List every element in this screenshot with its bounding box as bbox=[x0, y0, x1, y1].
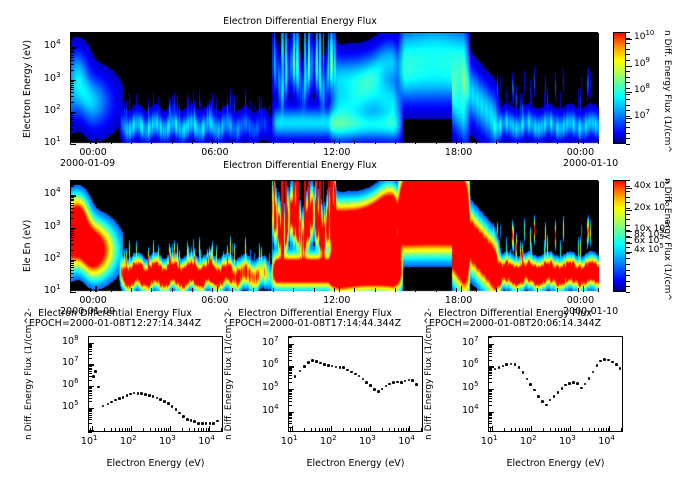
tick-mark bbox=[172, 288, 173, 292]
tick-mark bbox=[578, 140, 579, 144]
spectrum-panel-subtitle: EPOCH=2000-01-08T17:14:44.344Z bbox=[200, 318, 430, 329]
top-colorbar-label: n Diff. Energy Flux (1/(cm^ bbox=[672, 30, 697, 40]
spectrum-xlabel: Electron Energy (eV) bbox=[58, 458, 253, 469]
tick-mark bbox=[488, 417, 492, 418]
tick-mark bbox=[70, 49, 74, 50]
tick-mark bbox=[104, 428, 105, 432]
tick-mark bbox=[488, 405, 492, 406]
spectrum-xtick-label: 101 bbox=[281, 436, 298, 447]
tick-mark bbox=[527, 428, 528, 432]
tick-mark bbox=[409, 426, 410, 432]
tick-mark bbox=[151, 140, 152, 144]
tick-mark bbox=[70, 237, 74, 238]
yaxis-tick-label: 103 bbox=[44, 221, 61, 232]
data-point bbox=[167, 402, 170, 405]
spectrum-ytick-label: 107 bbox=[262, 337, 279, 348]
spectrum-xtick-label: 103 bbox=[159, 436, 176, 447]
tick-mark bbox=[70, 57, 74, 58]
tick-mark bbox=[70, 102, 74, 103]
tick-mark bbox=[122, 428, 123, 432]
tick-mark bbox=[70, 263, 74, 264]
data-point bbox=[94, 370, 97, 373]
tick-mark bbox=[626, 292, 630, 293]
tick-mark bbox=[161, 428, 162, 432]
spectrum-plot-area bbox=[288, 336, 423, 432]
data-point bbox=[137, 392, 140, 395]
tick-mark bbox=[111, 288, 112, 292]
xaxis-tick-label: 18:00 bbox=[445, 147, 472, 158]
tick-mark bbox=[358, 428, 359, 432]
tick-mark bbox=[212, 288, 213, 292]
tick-mark bbox=[88, 401, 92, 402]
tick-mark bbox=[293, 140, 294, 144]
yaxis-tick-label: 103 bbox=[44, 73, 61, 84]
spectrum-ytick-label: 106 bbox=[462, 359, 479, 370]
data-point bbox=[110, 401, 113, 404]
tick-mark bbox=[70, 113, 74, 114]
tick-mark bbox=[488, 368, 492, 369]
tick-mark bbox=[288, 391, 292, 392]
tick-mark bbox=[88, 415, 92, 416]
tick-mark bbox=[626, 71, 630, 72]
data-point bbox=[171, 405, 174, 408]
tick-mark bbox=[88, 411, 92, 412]
tick-mark bbox=[315, 428, 316, 432]
tick-mark bbox=[88, 371, 92, 372]
spectrum-xlabel: Electron Energy (eV) bbox=[258, 458, 453, 469]
tick-mark bbox=[461, 286, 462, 292]
tick-mark bbox=[525, 428, 526, 432]
tick-mark bbox=[626, 77, 630, 78]
tick-mark bbox=[70, 203, 74, 204]
tick-mark bbox=[626, 242, 630, 243]
tick-mark bbox=[288, 390, 292, 391]
tick-mark bbox=[232, 140, 233, 144]
data-point bbox=[197, 422, 200, 425]
tick-mark bbox=[70, 89, 74, 90]
tick-mark bbox=[253, 140, 254, 144]
tick-mark bbox=[70, 180, 74, 181]
tick-mark bbox=[70, 115, 74, 116]
tick-mark bbox=[88, 365, 92, 366]
data-point bbox=[557, 391, 560, 394]
tick-mark bbox=[626, 94, 630, 95]
tick-mark bbox=[131, 426, 132, 432]
tick-mark bbox=[70, 140, 71, 144]
tick-mark bbox=[131, 288, 132, 292]
tick-mark bbox=[70, 83, 74, 84]
tick-mark bbox=[561, 428, 562, 432]
tick-mark bbox=[70, 197, 74, 198]
tick-mark bbox=[626, 243, 632, 244]
tick-mark bbox=[626, 186, 630, 187]
spectrum-xtick-label: 102 bbox=[520, 436, 537, 447]
tick-mark bbox=[522, 428, 523, 432]
tick-mark bbox=[70, 52, 74, 53]
tick-mark bbox=[488, 347, 492, 348]
tick-mark bbox=[208, 428, 209, 432]
tick-mark bbox=[408, 428, 409, 432]
tick-mark bbox=[129, 428, 130, 432]
tick-mark bbox=[361, 428, 362, 432]
top-spectrogram-plot bbox=[70, 32, 598, 144]
tick-mark bbox=[70, 235, 74, 236]
spectrum-plot-area bbox=[88, 336, 223, 432]
tick-mark bbox=[70, 122, 74, 123]
tick-mark bbox=[488, 369, 492, 370]
tick-mark bbox=[88, 369, 92, 370]
tick-mark bbox=[88, 428, 89, 432]
data-point bbox=[303, 365, 306, 368]
tick-mark bbox=[626, 99, 630, 100]
tick-mark bbox=[88, 354, 92, 355]
data-point bbox=[118, 397, 121, 400]
data-point bbox=[400, 381, 403, 384]
tick-mark bbox=[511, 428, 512, 432]
tick-mark bbox=[555, 428, 556, 432]
tick-mark bbox=[288, 401, 292, 402]
tick-mark bbox=[70, 261, 74, 262]
tick-mark bbox=[375, 288, 376, 292]
tick-mark bbox=[354, 288, 355, 292]
tick-mark bbox=[88, 380, 92, 381]
tick-mark bbox=[626, 197, 630, 198]
colorbar-tick-label: 108 bbox=[634, 85, 650, 95]
tick-mark bbox=[88, 391, 92, 392]
tick-mark bbox=[488, 401, 492, 402]
tick-mark bbox=[92, 426, 93, 432]
tick-mark bbox=[88, 358, 92, 359]
tick-mark bbox=[496, 288, 497, 292]
tick-mark bbox=[288, 368, 292, 369]
tick-mark bbox=[288, 414, 292, 415]
tick-mark bbox=[626, 208, 630, 209]
tick-mark bbox=[70, 250, 74, 251]
tick-mark bbox=[608, 428, 609, 432]
tick-mark bbox=[288, 346, 292, 347]
tick-mark bbox=[192, 140, 193, 144]
tick-mark bbox=[290, 428, 291, 432]
tick-mark bbox=[288, 396, 292, 397]
tick-mark bbox=[626, 43, 630, 44]
spectrum-xtick-label: 102 bbox=[320, 436, 337, 447]
tick-mark bbox=[626, 191, 630, 192]
data-point bbox=[369, 384, 372, 387]
middle-colorbar bbox=[613, 180, 626, 292]
tick-mark bbox=[504, 428, 505, 432]
data-point bbox=[603, 358, 606, 361]
tick-mark bbox=[232, 288, 233, 292]
tick-mark bbox=[334, 140, 335, 144]
tick-mark bbox=[488, 360, 492, 361]
data-point bbox=[561, 387, 564, 390]
tick-mark bbox=[626, 210, 632, 211]
tick-mark bbox=[70, 218, 74, 219]
tick-mark bbox=[192, 288, 193, 292]
tick-mark bbox=[288, 378, 292, 379]
tick-mark bbox=[164, 428, 165, 432]
tick-mark bbox=[111, 140, 112, 144]
tick-mark bbox=[70, 38, 74, 39]
tick-mark bbox=[519, 428, 520, 432]
tick-mark bbox=[314, 288, 315, 292]
tick-mark bbox=[364, 428, 365, 432]
tick-mark bbox=[626, 180, 630, 181]
data-point bbox=[373, 388, 376, 391]
data-point bbox=[596, 364, 599, 367]
spectrum-ytick-label: 105 bbox=[62, 401, 79, 412]
tick-mark bbox=[496, 140, 497, 144]
data-point bbox=[148, 394, 151, 397]
tick-mark bbox=[288, 413, 292, 414]
data-point bbox=[354, 373, 357, 376]
tick-mark bbox=[70, 87, 74, 88]
tick-mark bbox=[609, 426, 610, 432]
tick-mark bbox=[288, 418, 292, 419]
tick-mark bbox=[368, 428, 369, 432]
tick-mark bbox=[201, 428, 202, 432]
tick-mark bbox=[209, 426, 210, 432]
tick-mark bbox=[488, 346, 492, 347]
spectrum-xtick-label: 101 bbox=[481, 436, 498, 447]
data-point bbox=[411, 379, 414, 382]
colorbar-tick-label: 107 bbox=[634, 111, 650, 121]
data-point bbox=[545, 404, 548, 407]
yaxis-tick-label: 101 bbox=[44, 137, 61, 148]
spectrum-ylabel-text: n Diff. Energy Flux (1/(cm^2- bbox=[24, 308, 34, 440]
tick-mark bbox=[88, 423, 92, 424]
data-point bbox=[553, 395, 556, 398]
tick-mark bbox=[70, 117, 74, 118]
tick-mark bbox=[583, 286, 584, 292]
tick-mark bbox=[70, 231, 74, 232]
tick-mark bbox=[288, 421, 292, 422]
yaxis-tick-label: 102 bbox=[44, 105, 61, 116]
tick-mark bbox=[394, 428, 395, 432]
tick-mark bbox=[488, 413, 492, 414]
tick-mark bbox=[626, 270, 630, 271]
tick-mark bbox=[568, 428, 569, 432]
data-point bbox=[144, 393, 147, 396]
tick-mark bbox=[166, 428, 167, 432]
tick-mark bbox=[88, 417, 92, 418]
data-point bbox=[97, 386, 100, 389]
tick-mark bbox=[125, 428, 126, 432]
tick-mark bbox=[598, 140, 599, 144]
data-point bbox=[568, 382, 571, 385]
tick-mark bbox=[288, 382, 292, 383]
tick-mark bbox=[70, 81, 74, 82]
data-point bbox=[415, 383, 418, 386]
tick-mark bbox=[198, 428, 199, 432]
data-point bbox=[498, 366, 501, 369]
tick-mark bbox=[88, 390, 92, 391]
tick-mark bbox=[626, 110, 630, 111]
tick-mark bbox=[70, 288, 71, 292]
tick-mark bbox=[322, 428, 323, 432]
middle-panel-title: Electron Differential Energy Flux bbox=[0, 160, 600, 171]
tick-mark bbox=[119, 428, 120, 432]
tick-mark bbox=[488, 418, 492, 419]
tick-mark bbox=[403, 428, 404, 432]
tick-mark bbox=[327, 428, 328, 432]
tick-mark bbox=[436, 288, 437, 292]
tick-mark bbox=[626, 49, 630, 50]
tick-mark bbox=[626, 133, 630, 134]
tick-mark bbox=[170, 426, 171, 432]
tick-mark bbox=[366, 428, 367, 432]
tick-mark bbox=[370, 426, 371, 432]
tick-mark bbox=[570, 426, 571, 432]
tick-mark bbox=[88, 349, 92, 350]
tick-mark bbox=[70, 282, 74, 283]
tick-mark bbox=[382, 428, 383, 432]
tick-mark bbox=[288, 428, 289, 432]
colorbar-tick-label: 1010 bbox=[634, 32, 654, 42]
colorbar-tick-label: 109 bbox=[634, 59, 650, 69]
tick-mark bbox=[88, 432, 92, 433]
spectrum-ylabel-text: n Diff. Energy Flux (1/(cm^2- bbox=[424, 308, 434, 440]
data-point bbox=[209, 422, 212, 425]
tick-mark bbox=[626, 118, 632, 119]
data-point bbox=[396, 381, 399, 384]
tick-mark bbox=[395, 140, 396, 144]
tick-mark bbox=[155, 428, 156, 432]
tick-mark bbox=[70, 244, 74, 245]
tick-mark bbox=[70, 186, 74, 187]
tick-mark bbox=[626, 247, 630, 248]
tick-mark bbox=[88, 376, 92, 377]
tick-mark bbox=[603, 428, 604, 432]
tick-mark bbox=[395, 288, 396, 292]
tick-mark bbox=[329, 428, 330, 432]
spectrum-ytick-label: 106 bbox=[62, 379, 79, 390]
tick-mark bbox=[111, 428, 112, 432]
tick-mark bbox=[127, 428, 128, 432]
tick-mark bbox=[88, 410, 92, 411]
tick-mark bbox=[314, 140, 315, 144]
tick-mark bbox=[626, 88, 630, 89]
tick-mark bbox=[70, 134, 74, 135]
data-point bbox=[193, 420, 196, 423]
tick-mark bbox=[626, 127, 630, 128]
tick-mark bbox=[334, 288, 335, 292]
tick-mark bbox=[488, 421, 492, 422]
xaxis-tick-label: 12:00 bbox=[323, 295, 350, 306]
tick-mark bbox=[488, 390, 492, 391]
tick-mark bbox=[88, 351, 92, 352]
tick-mark bbox=[517, 288, 518, 292]
tick-mark bbox=[288, 394, 292, 395]
tick-mark bbox=[217, 286, 218, 292]
tick-mark bbox=[354, 140, 355, 144]
spectrum-plot-area bbox=[488, 336, 623, 432]
tick-mark bbox=[288, 393, 292, 394]
tick-mark bbox=[557, 288, 558, 292]
spectrum-panel-subtitle: EPOCH=2000-01-08T12:27:14.344Z bbox=[0, 318, 230, 329]
tick-mark bbox=[488, 398, 492, 399]
tick-mark bbox=[339, 286, 340, 292]
data-point bbox=[178, 412, 181, 415]
tick-mark bbox=[70, 200, 74, 201]
data-point bbox=[392, 381, 395, 384]
tick-mark bbox=[406, 428, 407, 432]
data-point bbox=[615, 363, 618, 366]
tick-mark bbox=[626, 60, 630, 61]
tick-mark bbox=[529, 428, 530, 432]
spectrum-ytick-label: 104 bbox=[462, 405, 479, 416]
data-point bbox=[311, 359, 314, 362]
tick-mark bbox=[355, 428, 356, 432]
tick-mark bbox=[70, 199, 74, 200]
tick-mark bbox=[488, 396, 492, 397]
tick-mark bbox=[564, 428, 565, 432]
tick-mark bbox=[288, 360, 292, 361]
tick-mark bbox=[70, 240, 74, 241]
tick-mark bbox=[488, 375, 492, 376]
spectrum-xtick-label: 102 bbox=[120, 436, 137, 447]
tick-mark bbox=[531, 426, 532, 432]
tick-mark bbox=[151, 288, 152, 292]
tick-mark bbox=[88, 393, 92, 394]
tick-mark bbox=[70, 144, 76, 145]
tick-mark bbox=[90, 428, 91, 432]
tick-mark bbox=[70, 265, 74, 266]
tick-mark bbox=[288, 417, 292, 418]
spectrum-ylabel-text: n Diff. Energy Flux (1/(cm^2- bbox=[224, 308, 234, 440]
xaxis-tick-label: 12:00 bbox=[323, 147, 350, 158]
tick-mark bbox=[488, 428, 489, 432]
spectrum-ytick-label: 107 bbox=[62, 357, 79, 368]
xaxis-tick-label: 00:00 bbox=[79, 295, 106, 306]
tick-mark bbox=[288, 356, 292, 357]
tick-mark bbox=[401, 428, 402, 432]
spectrum-ytick-label: 107 bbox=[462, 337, 479, 348]
tick-mark bbox=[288, 347, 292, 348]
tick-mark bbox=[70, 292, 76, 293]
tick-mark bbox=[626, 66, 630, 67]
tick-mark bbox=[476, 140, 477, 144]
tick-mark bbox=[325, 428, 326, 432]
xaxis-tick-label: 06:00 bbox=[201, 295, 228, 306]
spectrum-xtick-label: 101 bbox=[81, 436, 98, 447]
tick-mark bbox=[88, 346, 92, 347]
tick-mark bbox=[606, 428, 607, 432]
tick-mark bbox=[70, 267, 74, 268]
tick-mark bbox=[594, 428, 595, 432]
tick-mark bbox=[253, 288, 254, 292]
spectrum-ytick-label: 108 bbox=[62, 336, 79, 347]
tick-mark bbox=[589, 428, 590, 432]
tick-mark bbox=[488, 423, 492, 424]
tick-mark bbox=[415, 288, 416, 292]
tick-mark bbox=[88, 366, 92, 367]
tick-mark bbox=[88, 409, 92, 410]
tick-mark bbox=[70, 70, 74, 71]
tick-mark bbox=[212, 140, 213, 144]
tick-mark bbox=[88, 347, 92, 348]
spectrum-panel-subtitle: EPOCH=2000-01-08T20:06:14.344Z bbox=[400, 318, 630, 329]
tick-mark bbox=[70, 64, 74, 65]
xaxis-tick-label: 00:00 bbox=[79, 147, 106, 158]
tick-mark bbox=[626, 32, 630, 33]
data-point bbox=[611, 361, 614, 364]
tick-mark bbox=[88, 373, 92, 374]
tick-mark bbox=[582, 428, 583, 432]
tick-mark bbox=[350, 428, 351, 432]
tick-mark bbox=[626, 54, 630, 55]
tick-mark bbox=[339, 138, 340, 144]
